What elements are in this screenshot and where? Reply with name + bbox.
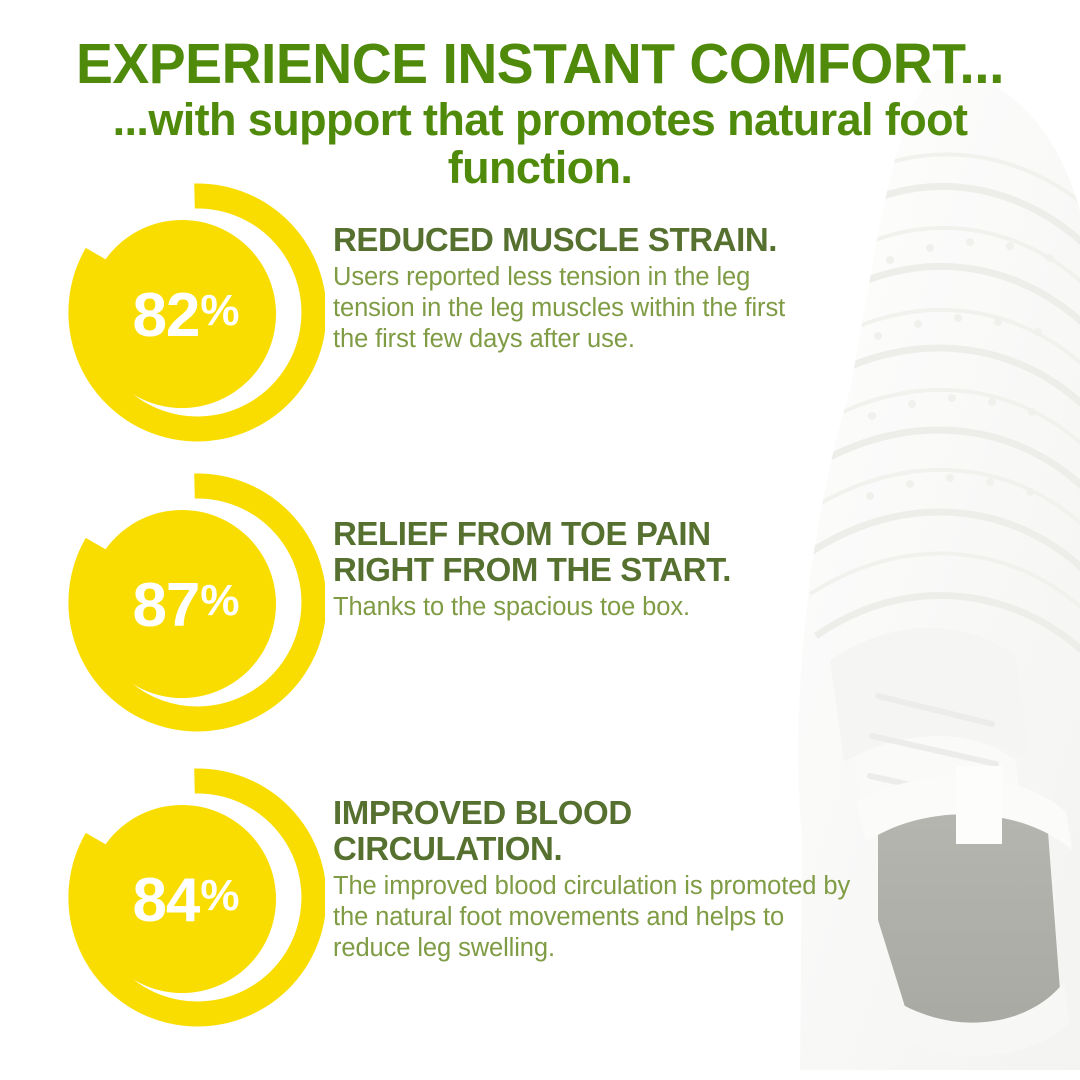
percentage-gauge: 87% [60, 470, 325, 735]
headline-line-2: ...with support that promotes natural fo… [0, 96, 1080, 192]
percent-symbol: % [200, 874, 238, 918]
benefit-row: 82% REDUCED MUSCLE STRAIN. Users reporte… [0, 180, 1080, 445]
headline-block: EXPERIENCE INSTANT COMFORT... ...with su… [0, 34, 1080, 192]
gauge-percent-label: 87% [53, 473, 318, 738]
benefit-copy: REDUCED MUSCLE STRAIN. Users reported le… [325, 180, 1013, 355]
percent-symbol: % [200, 289, 238, 333]
benefit-title: REDUCED MUSCLE STRAIN. [333, 222, 953, 258]
gauge-percent-number: 82 [132, 285, 199, 347]
gauge-percent-number: 87 [132, 575, 199, 637]
benefit-body: Thanks to the spacious toe box. [333, 592, 953, 623]
benefit-row: 84% IMPROVED BLOOD CIRCULATION. The impr… [0, 765, 1080, 1030]
benefit-title: IMPROVED BLOOD CIRCULATION. [333, 795, 1020, 867]
percent-symbol: % [200, 579, 238, 623]
headline-line-1: EXPERIENCE INSTANT COMFORT... [16, 34, 1064, 94]
benefit-copy: IMPROVED BLOOD CIRCULATION. The improved… [325, 765, 1080, 964]
gauge-percent-number: 84 [132, 870, 199, 932]
gauge-percent-label: 84% [53, 768, 318, 1033]
percentage-gauge: 84% [60, 765, 325, 1030]
benefit-copy: RELIEF FROM TOE PAIN RIGHT FROM THE STAR… [325, 470, 1013, 623]
percentage-gauge: 82% [60, 180, 325, 445]
benefit-body: The improved blood circulation is promot… [333, 871, 1020, 964]
infographic-canvas: EXPERIENCE INSTANT COMFORT... ...with su… [0, 0, 1080, 1080]
benefit-title: RELIEF FROM TOE PAIN RIGHT FROM THE STAR… [333, 516, 953, 588]
benefit-body: Users reported less tension in the leg t… [333, 262, 953, 355]
benefit-row: 87% RELIEF FROM TOE PAIN RIGHT FROM THE … [0, 470, 1080, 735]
gauge-percent-label: 82% [53, 183, 318, 448]
